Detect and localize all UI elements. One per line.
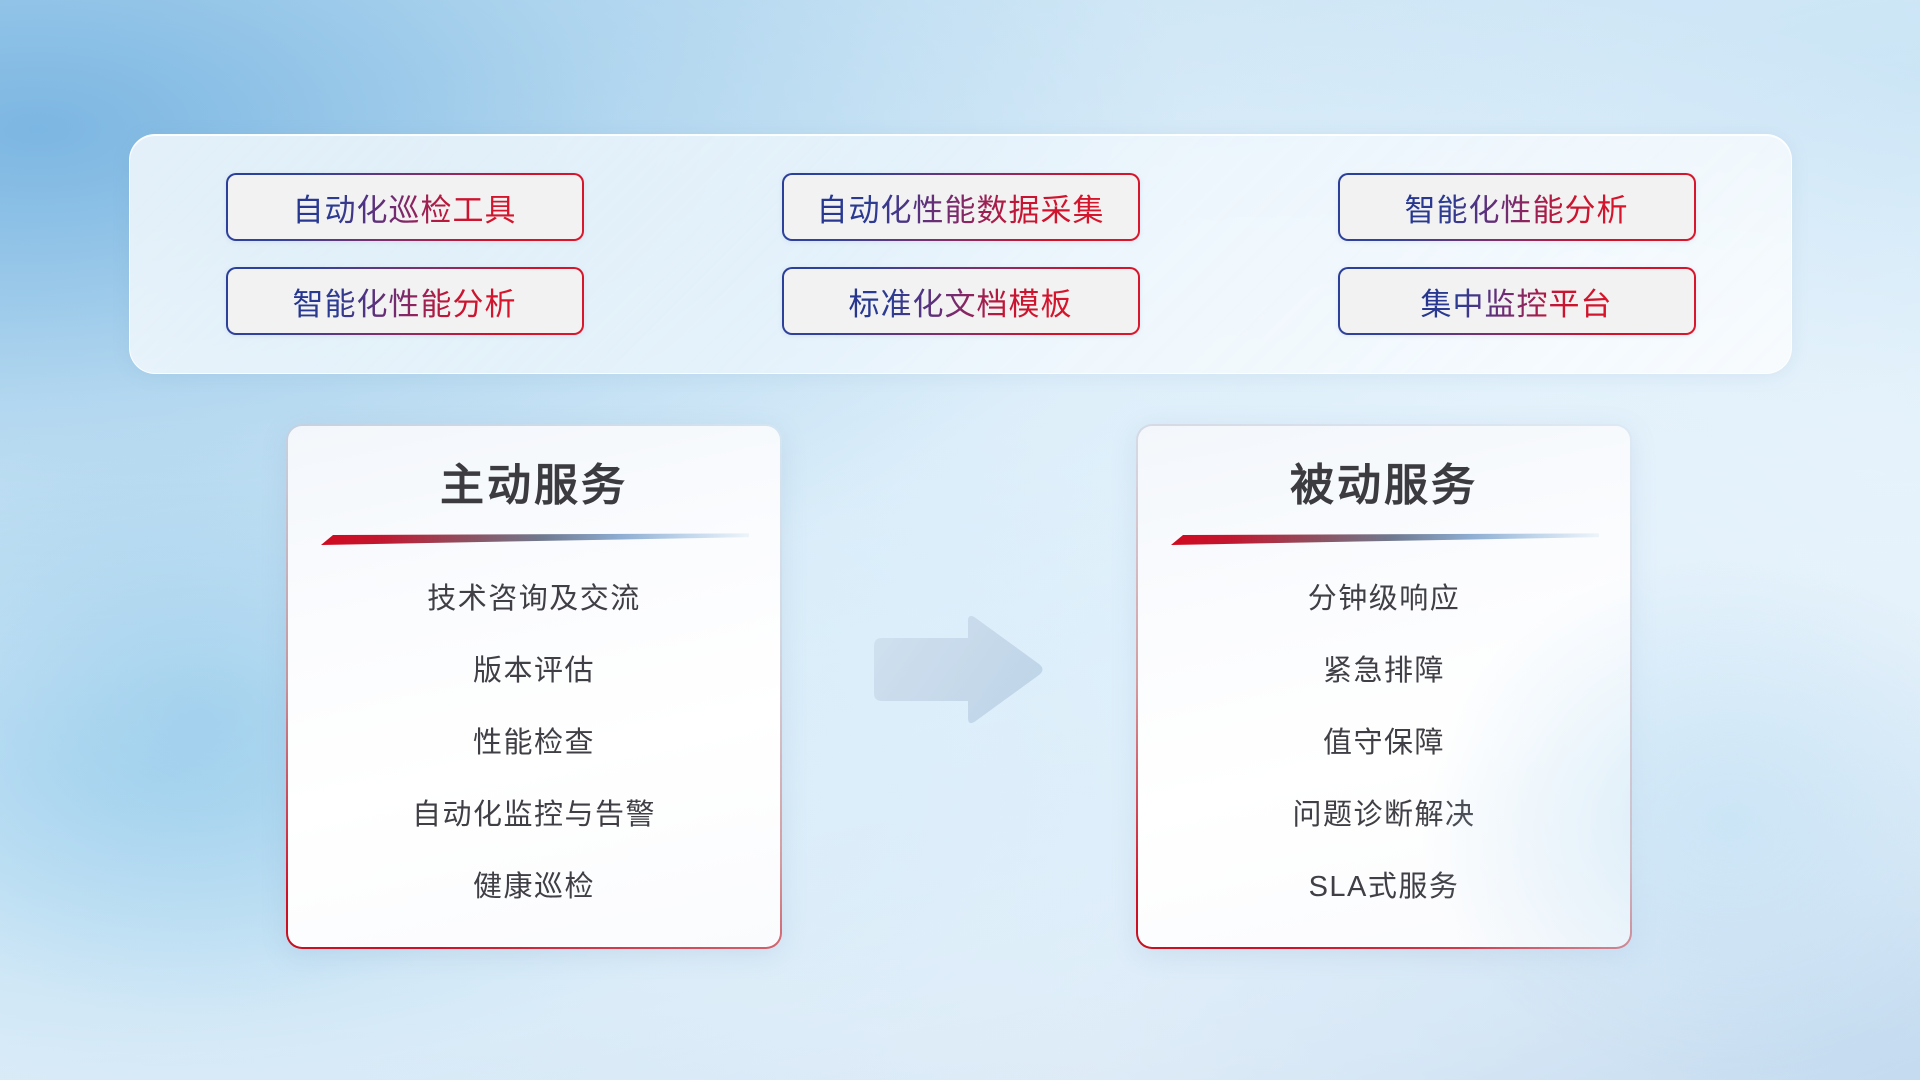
card-divider-active xyxy=(319,531,749,547)
service-item[interactable]: 问题诊断解决 xyxy=(1292,789,1475,841)
capability-pill-1-inner: 自动化巡检工具 xyxy=(228,175,582,239)
service-item[interactable]: 紧急排障 xyxy=(1323,645,1445,697)
service-card-passive-inner: 被动服务 xyxy=(1138,426,1630,947)
capability-row-1: 自动化巡检工具 自动化性能数据采集 智能化性能分析 xyxy=(226,173,1696,241)
service-card-passive-title: 被动服务 xyxy=(1290,458,1478,513)
service-item[interactable]: 健康巡检 xyxy=(473,861,595,913)
capability-pill-4[interactable]: 智能化性能分析 xyxy=(226,267,584,335)
capability-pill-3-label: 智能化性能分析 xyxy=(1405,185,1629,230)
service-item[interactable]: 自动化监控与告警 xyxy=(412,789,656,841)
arrow-right-icon xyxy=(866,612,1046,727)
service-item[interactable]: 技术咨询及交流 xyxy=(427,573,641,625)
capability-pill-4-inner: 智能化性能分析 xyxy=(228,269,582,333)
capability-pill-6-label: 集中监控平台 xyxy=(1421,279,1613,324)
service-card-passive: 被动服务 xyxy=(1136,424,1632,949)
service-card-active-inner: 主动服务 xyxy=(288,426,780,947)
capability-pill-5-inner: 标准化文档模板 xyxy=(784,269,1138,333)
service-item[interactable]: 值守保障 xyxy=(1323,717,1445,769)
service-card-passive-list: 分钟级响应 紧急排障 值守保障 问题诊断解决 SLA式服务 xyxy=(1138,573,1630,913)
service-item[interactable]: 性能检查 xyxy=(473,717,595,769)
capability-pill-1-label: 自动化巡检工具 xyxy=(293,185,517,230)
diagram-stage: 自动化巡检工具 自动化性能数据采集 智能化性能分析 智能化性能分析 xyxy=(0,0,1920,1080)
capability-pill-6-inner: 集中监控平台 xyxy=(1340,269,1694,333)
capability-pill-6[interactable]: 集中监控平台 xyxy=(1338,267,1696,335)
card-divider-passive xyxy=(1169,531,1599,547)
service-item[interactable]: SLA式服务 xyxy=(1309,861,1460,913)
service-item[interactable]: 版本评估 xyxy=(473,645,595,697)
capability-pill-2-label: 自动化性能数据采集 xyxy=(817,185,1105,230)
service-card-active: 主动服务 xyxy=(286,424,782,949)
capability-panel: 自动化巡检工具 自动化性能数据采集 智能化性能分析 智能化性能分析 xyxy=(129,134,1792,374)
service-card-active-list: 技术咨询及交流 版本评估 性能检查 自动化监控与告警 健康巡检 xyxy=(288,573,780,913)
capability-pill-5[interactable]: 标准化文档模板 xyxy=(782,267,1140,335)
capability-pill-3[interactable]: 智能化性能分析 xyxy=(1338,173,1696,241)
capability-pill-3-inner: 智能化性能分析 xyxy=(1340,175,1694,239)
capability-pill-2[interactable]: 自动化性能数据采集 xyxy=(782,173,1140,241)
capability-row-2: 智能化性能分析 标准化文档模板 集中监控平台 xyxy=(226,267,1696,335)
service-card-active-title: 主动服务 xyxy=(440,458,628,513)
capability-pill-5-label: 标准化文档模板 xyxy=(849,279,1073,324)
capability-pill-1[interactable]: 自动化巡检工具 xyxy=(226,173,584,241)
capability-pill-2-inner: 自动化性能数据采集 xyxy=(784,175,1138,239)
capability-pill-4-label: 智能化性能分析 xyxy=(293,279,517,324)
service-item[interactable]: 分钟级响应 xyxy=(1308,573,1461,625)
